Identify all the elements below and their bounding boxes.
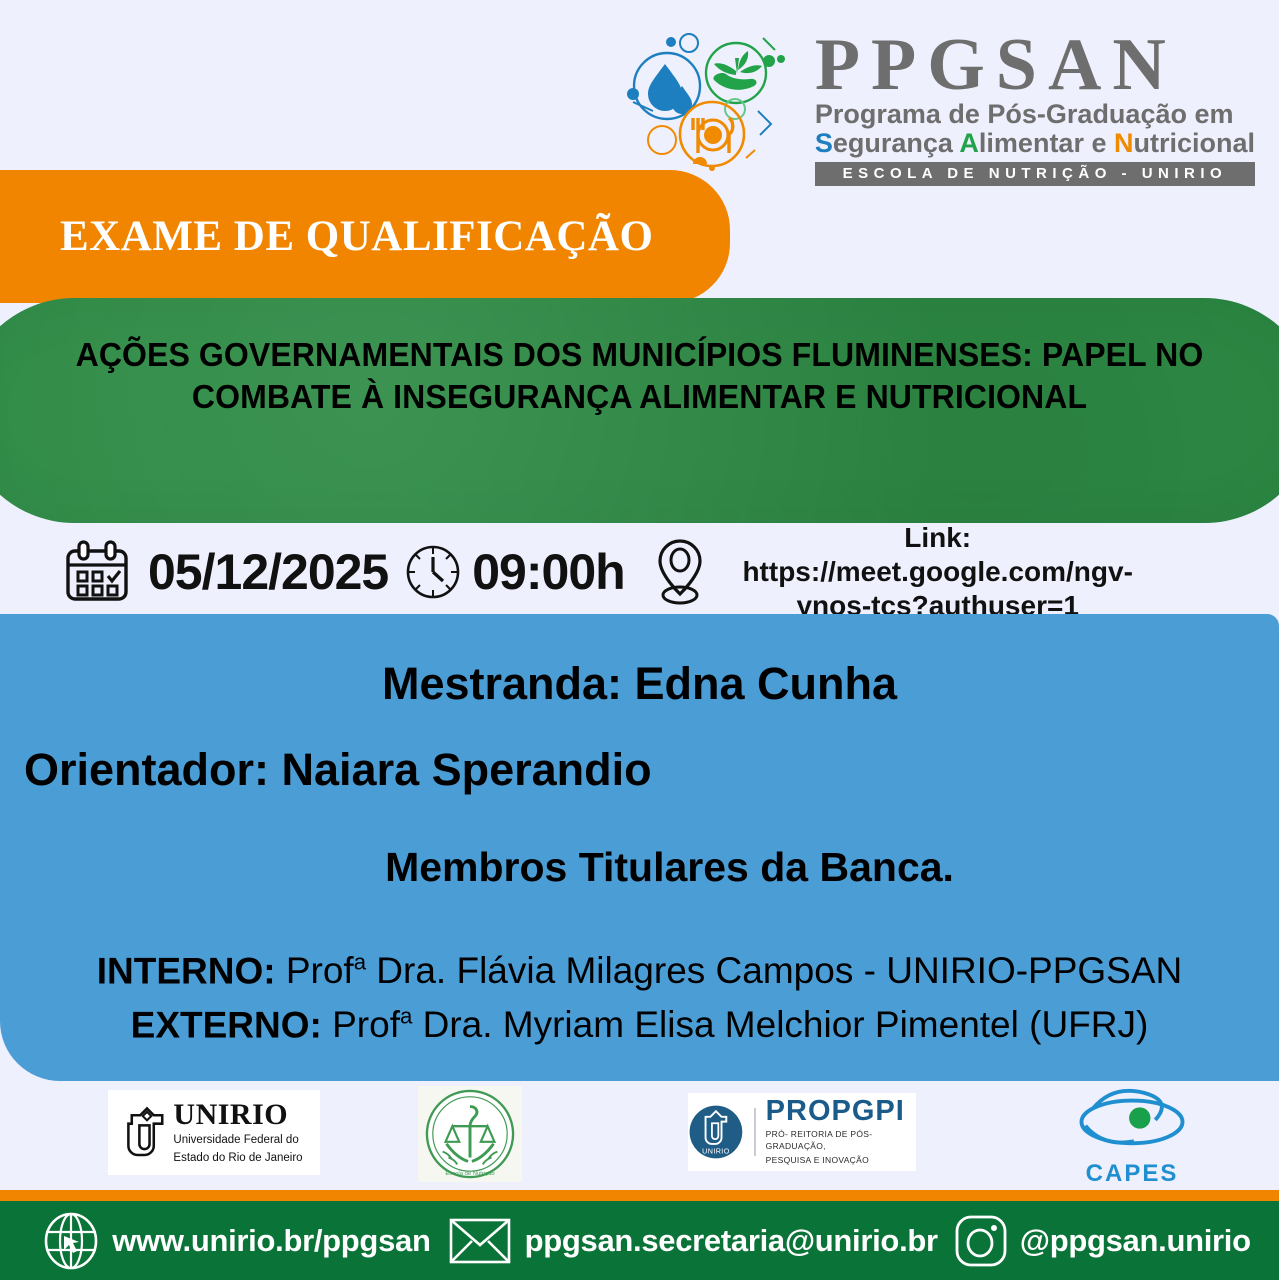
propgpi-logo-sub2: PESQUISA E INOVAÇÃO [766, 1155, 916, 1166]
unirio-logo-name: UNIRIO [173, 1100, 302, 1130]
capes-mark-icon [1064, 1083, 1200, 1153]
footer-contact-bar: www.unirio.br/ppgsan ppgsan.secretaria@u… [0, 1201, 1279, 1280]
ppgsan-logo: PPGSAN Programa de Pós-Graduação em Segu… [619, 28, 1255, 188]
mestranda-line: Mestranda: Edna Cunha [0, 658, 1279, 710]
event-date: 05/12/2025 [148, 543, 388, 601]
ppgsan-logo-text: PPGSAN Programa de Pós-Graduação em Segu… [815, 30, 1255, 186]
event-link-group: Link: https://meet.google.com/ngv-ynos-t… [651, 521, 1153, 623]
propgpi-logo-name: PROPGPI [766, 1097, 916, 1126]
clock-icon [404, 543, 462, 601]
ppgsan-school-band: ESCOLA DE NUTRIÇÃO - UNIRIO [815, 162, 1255, 186]
mail-icon [449, 1217, 511, 1265]
escola-nutricao-seal-icon: Escola de Nutrição [423, 1087, 517, 1181]
propgpi-divider [754, 1108, 756, 1156]
propgpi-logo: UNIRIO PROPGPI PRÓ- REITORIA DE PÓS-GRAD… [688, 1093, 916, 1171]
ppgsan-subtitle-line1: Programa de Pós-Graduação em [815, 100, 1234, 128]
capes-logo: CAPES [1062, 1086, 1202, 1184]
propgpi-unirio-badge-icon: UNIRIO [688, 1101, 744, 1163]
membros-heading: Membros Titulares da Banca. [0, 844, 1279, 891]
svg-text:Escola de Nutrição: Escola de Nutrição [445, 1171, 495, 1177]
exam-banner-label: EXAME DE QUALIFICAÇÃO [60, 212, 653, 261]
svg-text:UNIRIO: UNIRIO [702, 1148, 730, 1156]
footer-instagram-text: @ppgsan.unirio [1020, 1223, 1251, 1259]
event-datetime-group: 05/12/2025 09:00h [62, 539, 625, 605]
footer-website-item[interactable]: www.unirio.br/ppgsan [28, 1212, 430, 1270]
footer-accent-rule [0, 1190, 1279, 1201]
banca-interno-value: Profa Dra. Flávia Milagres Campos - UNIR… [286, 950, 1182, 991]
page-title: AÇÕES GOVERNAMENTAIS DOS MUNICÍPIOS FLUM… [50, 334, 1229, 418]
footer-email-item[interactable]: ppgsan.secretaria@unirio.br [431, 1217, 938, 1265]
instagram-icon [954, 1214, 1008, 1268]
escola-nutricao-logo: Escola de Nutrição [418, 1086, 522, 1182]
title-blob: AÇÕES GOVERNAMENTAIS DOS MUNICÍPIOS FLUM… [0, 298, 1279, 523]
ppgsan-acronym: PPGSAN [815, 30, 1177, 100]
capes-logo-name: CAPES [1064, 1160, 1200, 1188]
footer-email-text: ppgsan.secretaria@unirio.br [525, 1223, 938, 1259]
event-link[interactable]: Link: https://meet.google.com/ngv-ynos-t… [723, 521, 1153, 623]
unirio-logo-sub2: Estado do Rio de Janeiro [173, 1151, 302, 1165]
banca-externo-row: EXTERNO: Profa Dra. Myriam Elisa Melchio… [0, 1004, 1279, 1046]
ppgsan-logo-marks [619, 28, 799, 188]
poster-canvas: PPGSAN Programa de Pós-Graduação em Segu… [0, 0, 1279, 1280]
footer-instagram-item[interactable]: @ppgsan.unirio [938, 1214, 1251, 1268]
unirio-logo: UNIRIO Universidade Federal do Estado do… [108, 1090, 320, 1175]
unirio-logo-sub1: Universidade Federal do [173, 1133, 302, 1147]
footer-website-text: www.unirio.br/ppgsan [112, 1223, 430, 1259]
globe-icon [42, 1212, 100, 1270]
ppgsan-subtitle-line2: Segurança Alimentar e Nutricional [815, 129, 1255, 157]
event-info-row: 05/12/2025 09:00h [0, 524, 1279, 620]
exam-banner: EXAME DE QUALIFICAÇÃO [0, 170, 730, 303]
banca-interno-label: INTERNO: [97, 950, 276, 991]
propgpi-logo-sub1: PRÓ- REITORIA DE PÓS-GRADUAÇÃO, [766, 1129, 916, 1152]
unirio-mark-icon [125, 1106, 169, 1160]
calendar-icon [62, 539, 132, 605]
banca-externo-value: Profa Dra. Myriam Elisa Melchior Pimente… [332, 1004, 1148, 1045]
orientador-line: Orientador: Naiara Sperandio [24, 744, 652, 796]
event-time: 09:00h [472, 543, 624, 601]
people-panel: Mestranda: Edna Cunha Orientador: Naiara… [0, 614, 1279, 1081]
banca-interno-row: INTERNO: Profa Dra. Flávia Milagres Camp… [0, 950, 1279, 992]
location-pin-icon [651, 536, 709, 608]
banca-externo-label: EXTERNO: [131, 1004, 322, 1045]
